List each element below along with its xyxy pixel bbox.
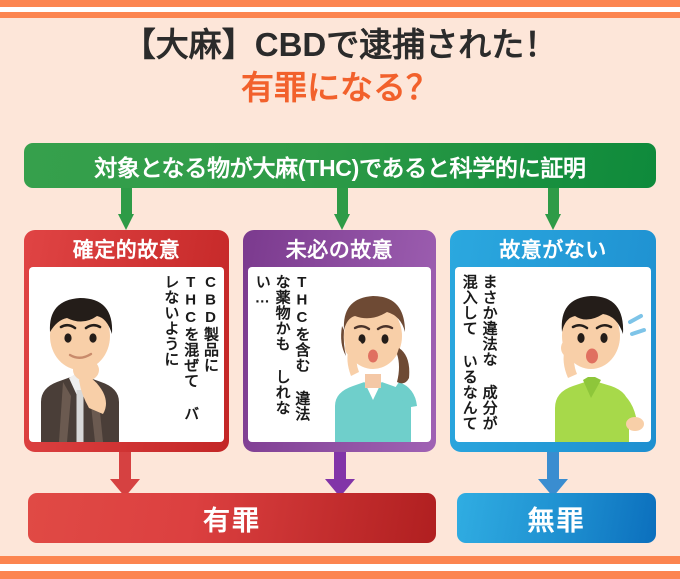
- title-line-2: 有罪になる？: [0, 69, 680, 108]
- result-arrow-down-icon-innocent: [538, 452, 568, 497]
- card-quote-text: CBD製品に THCを混ぜて バレないように: [161, 274, 220, 434]
- result-banner-guilty: 有罪: [28, 493, 436, 543]
- green-arrow-down-icon-3: [545, 188, 561, 230]
- bottom-stripe-inner: [0, 556, 680, 564]
- top-stripe-outer: [0, 0, 680, 7]
- result-arrow-down-icon-guilty-1: [110, 452, 140, 497]
- top-stripe-inner: [0, 12, 680, 18]
- thinking-man-illustration: [29, 282, 143, 442]
- card-header-label: 確定的故意: [24, 230, 229, 267]
- worried-woman-illustration: [315, 282, 431, 442]
- result-arrow-down-icon-guilty-2: [325, 452, 355, 497]
- title-line-1: 【大麻】CBDで逮捕された！: [0, 26, 680, 65]
- card-body: THCを含む 違法な薬物かも しれない…: [248, 267, 431, 442]
- green-arrow-down-icon-1: [118, 188, 134, 230]
- card-header-label: 未必の故意: [243, 230, 436, 267]
- card-header-label: 故意がない: [450, 230, 656, 267]
- bottom-stripe-gap: [0, 564, 680, 571]
- bottom-stripe-outer: [0, 571, 680, 579]
- scenario-card-no-intent: 故意がない まさか違法な 成分が混入して いるなんて: [450, 230, 656, 452]
- result-banner-innocent: 無罪: [457, 493, 656, 543]
- page-title: 【大麻】CBDで逮捕された！ 有罪になる？: [0, 26, 680, 108]
- scenario-card-definite-intent: 確定的故意 CBD製品に THCを混ぜて バレないように: [24, 230, 229, 452]
- green-arrow-down-icon-2: [334, 188, 350, 230]
- card-quote-text: THCを含む 違法な薬物かも しれない…: [252, 274, 311, 434]
- card-body: まさか違法な 成分が混入して いるなんて: [455, 267, 651, 442]
- surprised-man-illustration: [535, 282, 651, 442]
- card-quote-text: まさか違法な 成分が混入して いるなんて: [459, 274, 499, 434]
- premise-banner: 対象となる物が大麻(THC)であると科学的に証明: [24, 143, 656, 188]
- card-body: CBD製品に THCを混ぜて バレないように: [29, 267, 224, 442]
- scenario-card-willful-blindness: 未必の故意 THCを含む 違法な薬物かも しれない…: [243, 230, 436, 452]
- infographic-poster: 【大麻】CBDで逮捕された！ 有罪になる？ 対象となる物が大麻(THC)であると…: [0, 0, 680, 579]
